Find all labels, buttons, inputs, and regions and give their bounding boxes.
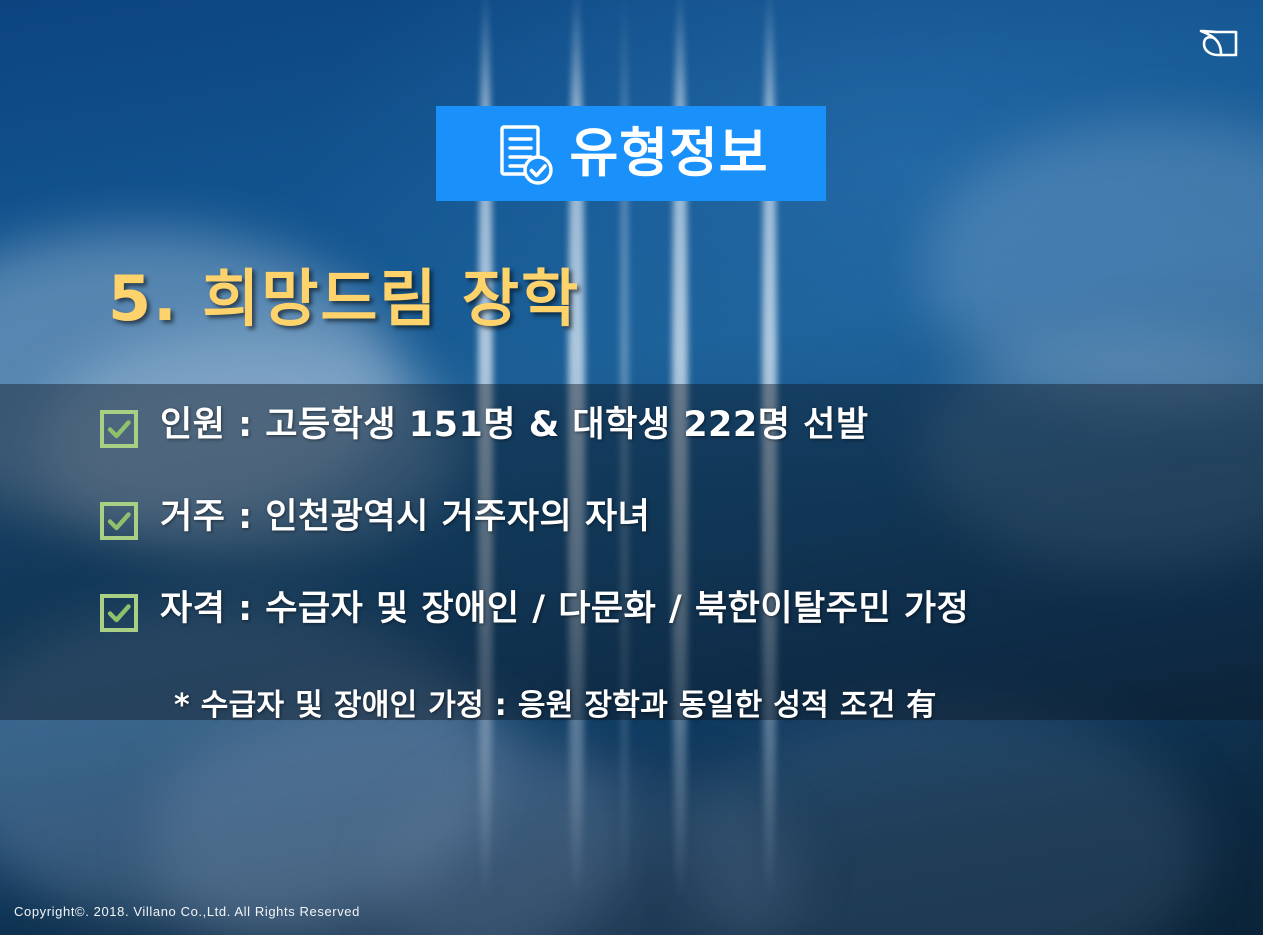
copyright-footer: Copyright©. 2018. Villano Co.,Ltd. All R… (14, 904, 360, 919)
checkbox-checked-icon (100, 594, 138, 632)
page-title: 5. 희망드림 장학 (108, 266, 580, 331)
list-item-label: 자격 : 수급자 및 장애인 / 다문화 / 북한이탈주민 가정 (160, 588, 969, 630)
slide-canvas: 유형정보 5. 희망드림 장학 인원 : 고등학생 151명 & 대학생 222… (0, 0, 1263, 935)
title-banner: 유형정보 (436, 106, 826, 201)
bullet-list: 인원 : 고등학생 151명 & 대학생 222명 선발 거주 : 인천광역시 … (100, 404, 1200, 724)
document-checklist-icon (497, 123, 555, 185)
list-item-label: 거주 : 인천광역시 거주자의 자녀 (160, 496, 650, 538)
list-item: 자격 : 수급자 및 장애인 / 다문화 / 북한이탈주민 가정 (100, 588, 1200, 632)
villano-leaf-logo-icon (1195, 18, 1243, 62)
list-item: 거주 : 인천광역시 거주자의 자녀 (100, 496, 1200, 540)
list-item-label: 인원 : 고등학생 151명 & 대학생 222명 선발 (160, 404, 869, 446)
list-item: 인원 : 고등학생 151명 & 대학생 222명 선발 (100, 404, 1200, 448)
checkbox-checked-icon (100, 502, 138, 540)
checkbox-checked-icon (100, 410, 138, 448)
banner-title: 유형정보 (569, 127, 768, 180)
list-item-note: * 수급자 및 장애인 가정 : 응원 장학과 동일한 성적 조건 有 (174, 680, 1200, 724)
